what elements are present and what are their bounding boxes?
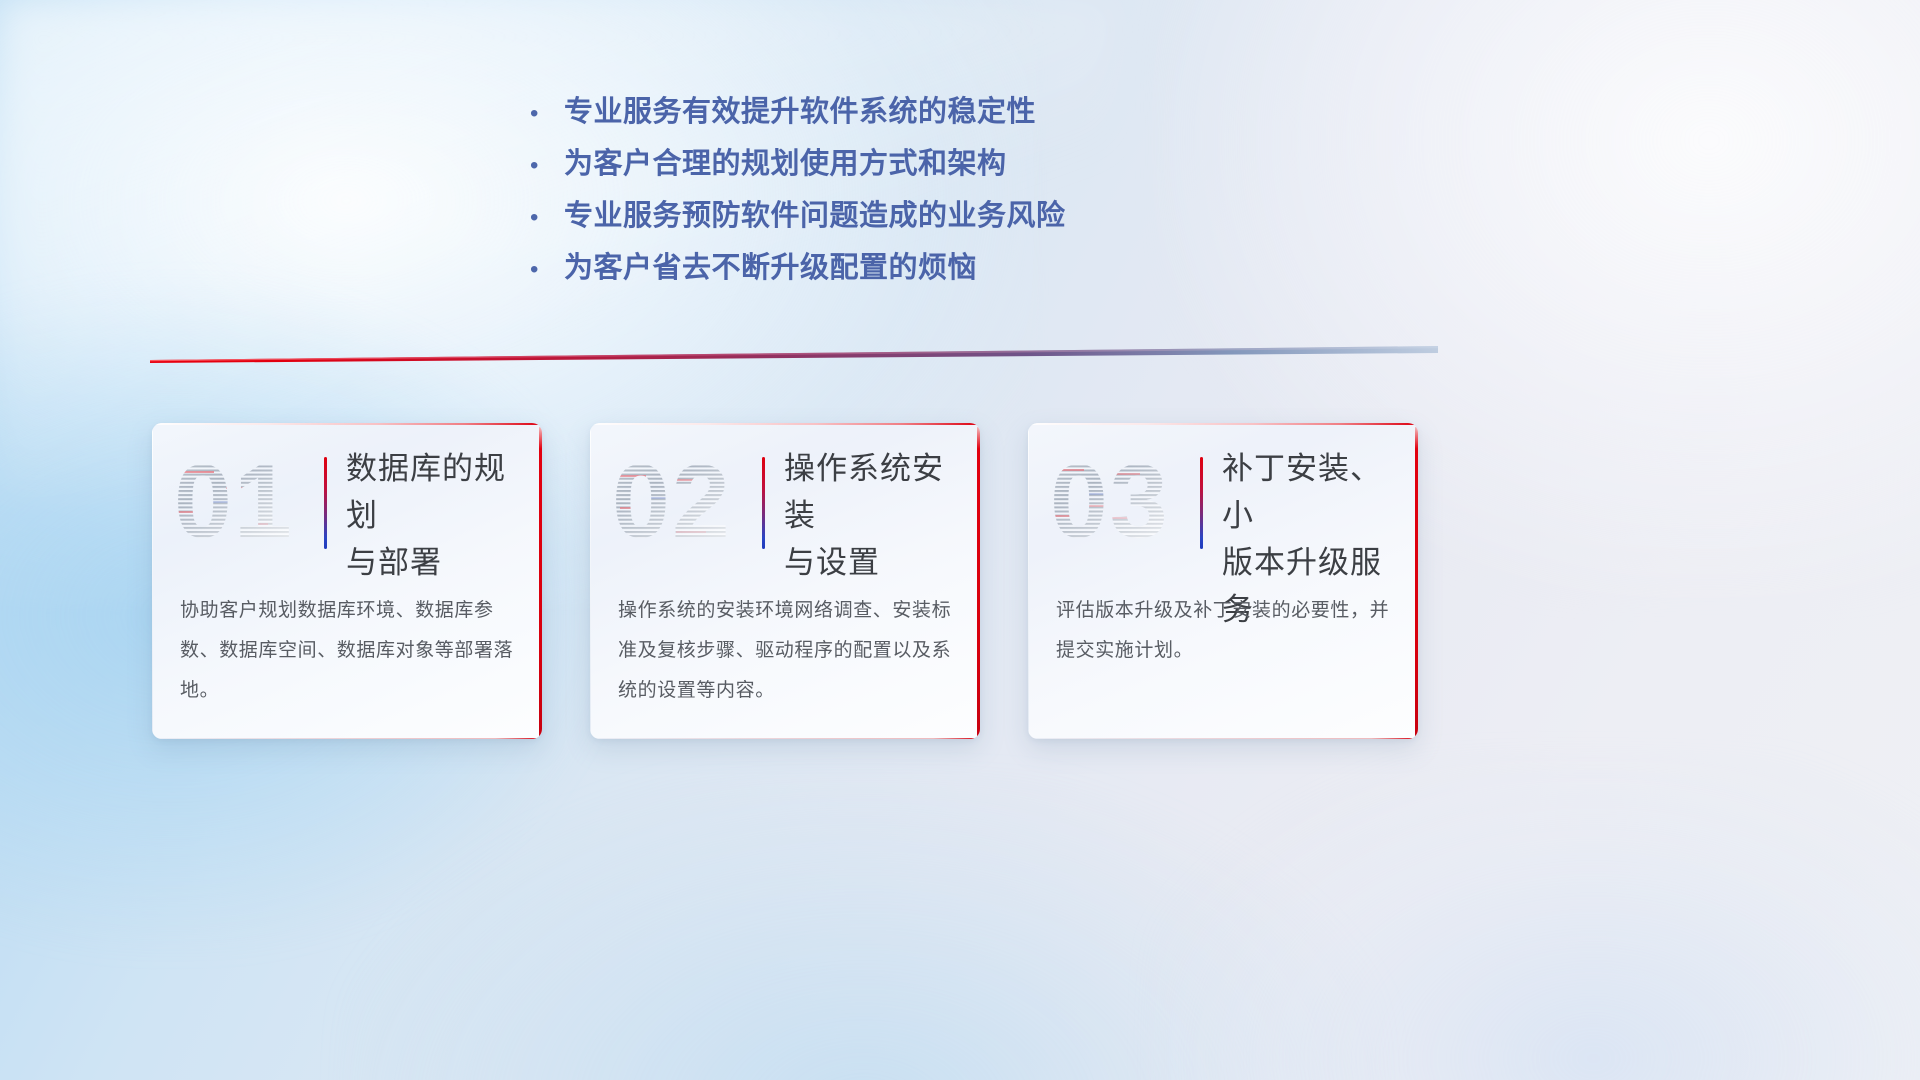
service-card[interactable]: 02 <box>590 423 980 739</box>
bullet-dot-icon: • <box>530 97 564 131</box>
card-bottom-edge <box>590 738 980 739</box>
card-bottom-edge <box>1028 738 1418 739</box>
list-item: • 为客户合理的规划使用方式和架构 <box>530 138 1290 190</box>
card-title-line2: 与设置 <box>784 539 970 586</box>
list-item: • 为客户省去不断升级配置的烦恼 <box>530 242 1290 294</box>
bullet-dot-icon: • <box>530 201 564 235</box>
bullet-text: 专业服务预防软件问题造成的业务风险 <box>564 190 1066 242</box>
bullet-text: 为客户合理的规划使用方式和架构 <box>564 138 1007 190</box>
card-description: 协助客户规划数据库环境、数据库参数、数据库空间、数据库对象等部署落地。 <box>180 591 518 711</box>
bullet-dot-icon: • <box>530 253 564 287</box>
list-item: • 专业服务预防软件问题造成的业务风险 <box>530 190 1290 242</box>
list-item: • 专业服务有效提升软件系统的稳定性 <box>530 86 1290 138</box>
card-number-watermark: 02 <box>612 449 752 557</box>
card-header: 02 <box>590 423 980 583</box>
service-card[interactable]: 01 <box>152 423 542 739</box>
card-description: 评估版本升级及补丁安装的必要性，并提交实施计划。 <box>1056 591 1394 671</box>
bullet-text: 为客户省去不断升级配置的烦恼 <box>564 242 977 294</box>
card-number-watermark: 03 <box>1050 449 1190 557</box>
bullet-text: 专业服务有效提升软件系统的稳定性 <box>564 86 1036 138</box>
card-accent-rule <box>1200 457 1203 549</box>
card-accent-rule <box>324 457 327 549</box>
card-title-line2: 与部署 <box>346 539 532 586</box>
background-glow-bottom-right <box>1152 756 1920 1080</box>
service-card[interactable]: 03 <box>1028 423 1418 739</box>
card-title: 操作系统安装 与设置 <box>784 445 970 586</box>
card-header: 03 <box>1028 423 1418 583</box>
slide-canvas: • 专业服务有效提升软件系统的稳定性 • 为客户合理的规划使用方式和架构 • 专… <box>0 0 1920 1080</box>
card-title-line1: 数据库的规划 <box>346 445 532 539</box>
card-title-line1: 补丁安装、小 <box>1222 445 1408 539</box>
card-accent-rule <box>762 457 765 549</box>
card-number-watermark: 01 <box>174 449 314 557</box>
benefits-bullet-list: • 专业服务有效提升软件系统的稳定性 • 为客户合理的规划使用方式和架构 • 专… <box>530 86 1290 294</box>
bullet-dot-icon: • <box>530 149 564 183</box>
card-header: 01 <box>152 423 542 583</box>
card-title-line1: 操作系统安装 <box>784 445 970 539</box>
card-bottom-edge <box>152 738 542 739</box>
card-title: 数据库的规划 与部署 <box>346 445 532 586</box>
card-description: 操作系统的安装环境网络调查、安装标准及复核步骤、驱动程序的配置以及系统的设置等内… <box>618 591 956 711</box>
service-card-row: 01 <box>152 423 1568 739</box>
section-divider <box>148 344 1438 366</box>
